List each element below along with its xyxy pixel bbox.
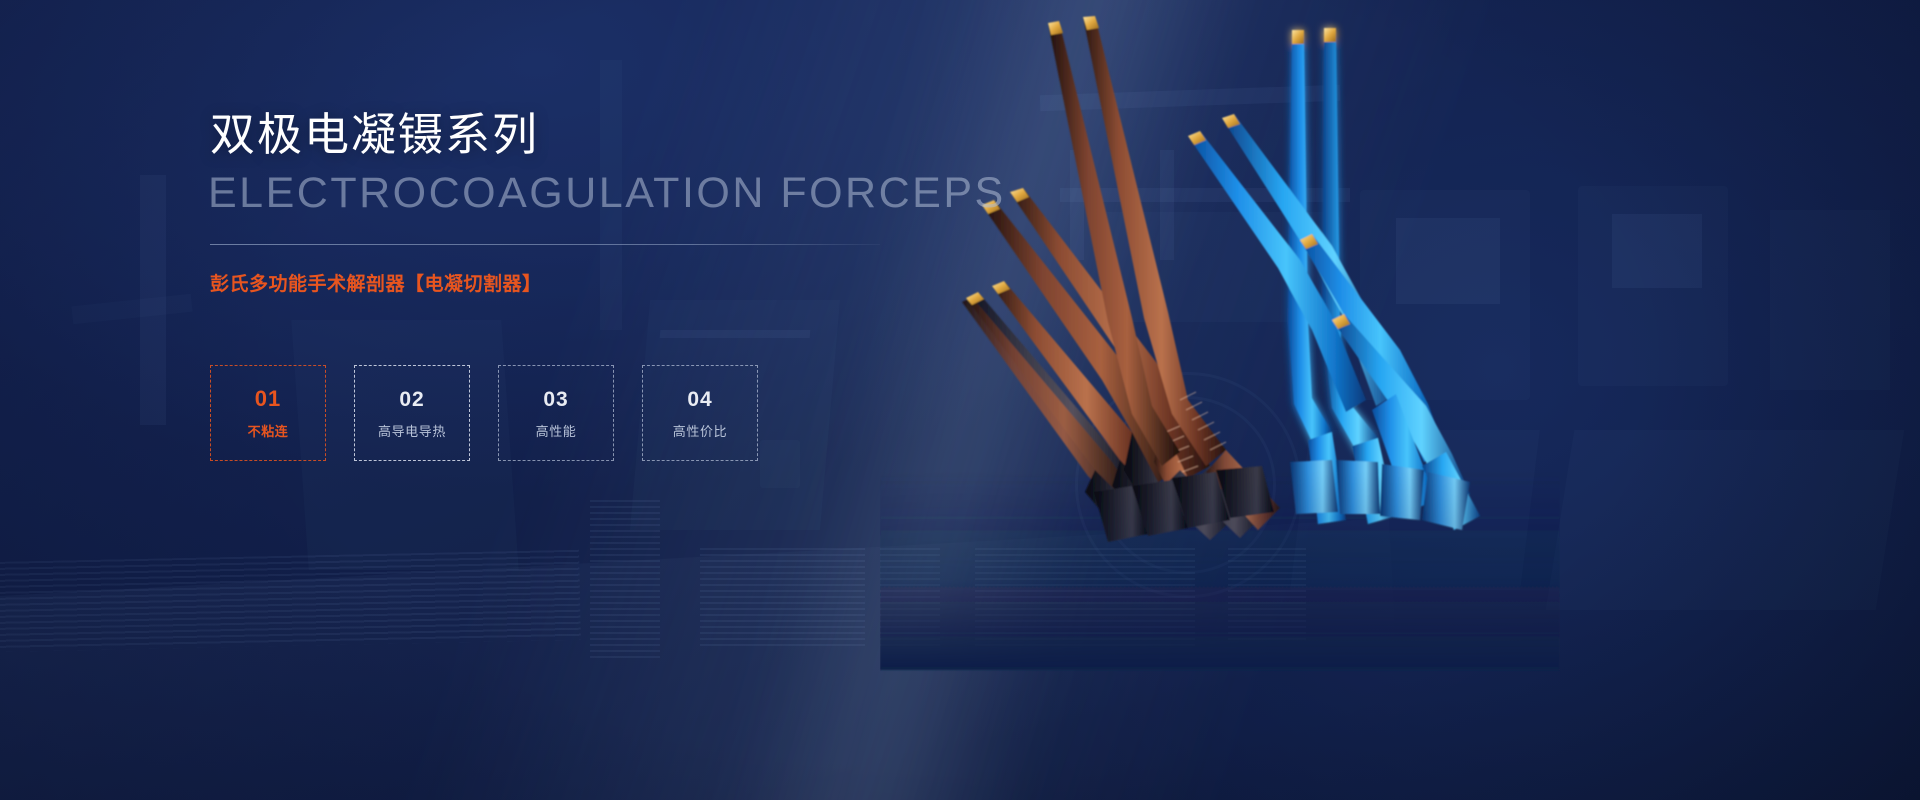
counter-right [1546, 430, 1905, 610]
forceps-blue-3 [1188, 131, 1366, 412]
forceps-blue-1 [1288, 30, 1332, 446]
forceps-shank-c [1206, 450, 1280, 530]
pole-left [140, 175, 166, 425]
collar-blue-1 [1290, 460, 1338, 514]
feature-card-03[interactable]: 03 高性能 [498, 365, 614, 461]
arm-left [71, 294, 192, 324]
title-divider [210, 244, 880, 245]
forceps-blue-5 [1300, 234, 1446, 462]
product-tagline: 彭氏多功能手术解剖器【电凝切割器】 [210, 275, 542, 294]
shelf-unit [1578, 186, 1728, 386]
page-subtitle-en: ELECTROCOAGULATION FORCEPS [208, 172, 1006, 215]
blue-shank-d [1422, 452, 1480, 530]
forceps-blue-4 [1222, 114, 1396, 406]
handle-collars [1080, 460, 1480, 560]
ceiling-unit [1100, 212, 1330, 322]
monitor-panel [1360, 190, 1530, 400]
wall-panel-right [1770, 210, 1890, 390]
page-title: 双极电凝镊系列 [210, 112, 539, 157]
collar-blue-3 [1380, 464, 1424, 520]
feature-label: 高性价比 [673, 425, 727, 438]
forceps-blue-2 [1322, 28, 1378, 454]
lamp-ring-inner [1098, 396, 1276, 574]
feature-card-04[interactable]: 04 高性价比 [642, 365, 758, 461]
ceiling-drop-b [1160, 150, 1174, 260]
feature-label: 不粘连 [248, 425, 289, 438]
forceps-shank-a [1158, 470, 1232, 540]
blue-shank-a [1308, 432, 1346, 524]
product-banner: 双极电凝镊系列 ELECTROCOAGULATION FORCEPS 彭氏多功能… [0, 0, 1920, 800]
feature-number: 02 [399, 389, 424, 410]
collar-blue-4 [1422, 472, 1470, 530]
shelf-box [1612, 214, 1702, 288]
blinds-panel-right-b [1228, 548, 1306, 644]
blue-shank-b [1352, 438, 1396, 524]
feature-card-01[interactable]: 01 不粘连 [210, 365, 326, 461]
blue-shank-c [1372, 394, 1436, 512]
feature-list: 01 不粘连 02 高导电导热 03 高性能 04 高性价比 [210, 365, 786, 461]
feature-card-02[interactable]: 02 高导电导热 [354, 365, 470, 461]
table-right [1290, 430, 1540, 590]
collar-dark-3 [1172, 472, 1230, 528]
collar-blue-2 [1336, 460, 1380, 514]
feature-number: 04 [687, 389, 712, 410]
monitor-screen [1396, 218, 1500, 304]
feature-number: 03 [543, 389, 568, 410]
collar-dark-4 [1216, 466, 1274, 518]
feature-label: 高性能 [536, 425, 577, 438]
feature-label: 高导电导热 [378, 425, 446, 438]
feature-number: 01 [255, 388, 281, 410]
forceps-blue-6 [1332, 314, 1470, 506]
collar-dark-2 [1132, 480, 1188, 536]
banner-content: 双极电凝镊系列 ELECTROCOAGULATION FORCEPS 彭氏多功能… [210, 0, 1110, 800]
forceps-shank-b [1188, 466, 1262, 538]
